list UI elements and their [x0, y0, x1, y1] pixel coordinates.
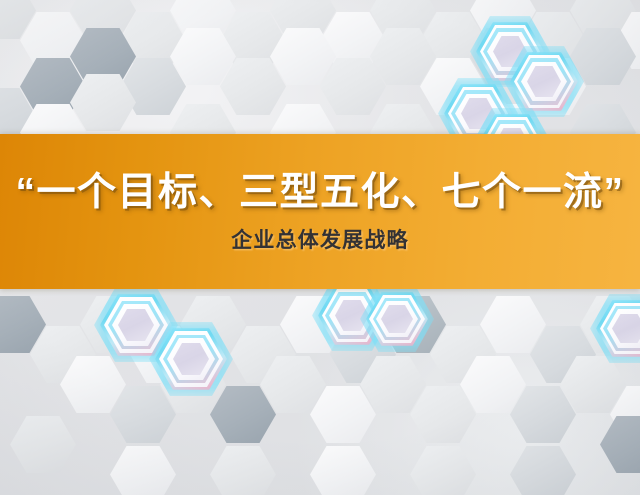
glowing-hexagon	[155, 328, 227, 390]
presentation-slide: “一个目标、三型五化、七个一流” 企业总体发展战略	[0, 0, 640, 495]
title-banner: “一个目标、三型五化、七个一流” 企业总体发展战略	[0, 134, 640, 289]
glowing-hexagon	[366, 292, 428, 346]
glowing-hexagon	[510, 52, 578, 111]
page-subtitle: 企业总体发展战略	[231, 230, 409, 251]
glowing-hexagon	[596, 300, 640, 357]
page-title: “一个目标、三型五化、七个一流”	[15, 172, 624, 214]
